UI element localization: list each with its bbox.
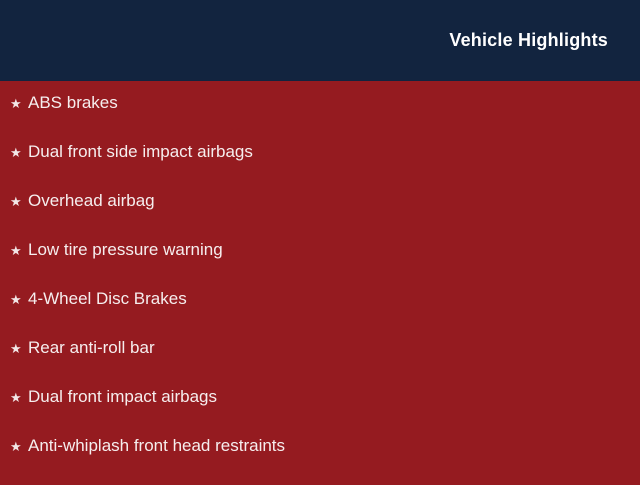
star-bullet-icon: ★ [10,342,28,355]
star-bullet-icon: ★ [10,146,28,159]
list-item-label: 4-Wheel Disc Brakes [28,289,187,309]
header-bar: Vehicle Highlights [0,0,640,81]
highlights-list: ★ ABS brakes ★ Dual front side impact ai… [0,93,640,485]
list-item-label: Anti-whiplash front head restraints [28,436,285,456]
vehicle-highlights-slide: Vehicle Highlights ★ ABS brakes ★ Dual f… [0,0,640,480]
list-item-label: Overhead airbag [28,191,155,211]
list-item: ★ Dual front impact airbags [0,387,640,436]
list-item: ★ Overhead airbag [0,191,640,240]
list-item-label: Dual front impact airbags [28,387,217,407]
list-item: ★ Dual front side impact airbags [0,142,640,191]
list-item-label: Dual front side impact airbags [28,142,253,162]
star-bullet-icon: ★ [10,391,28,404]
list-item: ★ Rear anti-roll bar [0,338,640,387]
page-title: Vehicle Highlights [449,31,608,51]
highlights-panel: ★ ABS brakes ★ Dual front side impact ai… [0,81,640,485]
list-item: ★ ABS brakes [0,93,640,142]
star-bullet-icon: ★ [10,440,28,453]
list-item-label: ABS brakes [28,93,118,113]
list-item: ★ 4-Wheel Disc Brakes [0,289,640,338]
star-bullet-icon: ★ [10,97,28,110]
star-bullet-icon: ★ [10,195,28,208]
star-bullet-icon: ★ [10,293,28,306]
list-item-label: Low tire pressure warning [28,240,223,260]
star-bullet-icon: ★ [10,244,28,257]
list-item: ★ Low tire pressure warning [0,240,640,289]
list-item-label: Rear anti-roll bar [28,338,155,358]
list-item: ★ Anti-whiplash front head restraints [0,436,640,485]
